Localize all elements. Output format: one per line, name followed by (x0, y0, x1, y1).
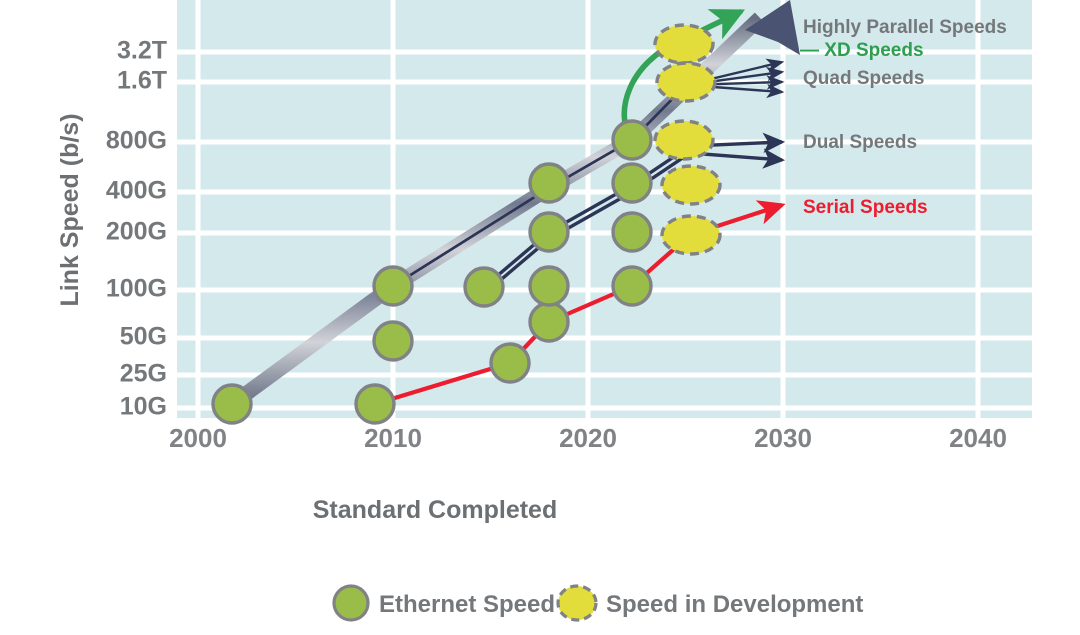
x-tick-2010: 2010 (364, 423, 422, 453)
y-tick-10g: 10G (120, 393, 167, 421)
y-tick-100g: 100G (106, 275, 167, 303)
y-tick-25g: 25G (120, 360, 167, 388)
speed-marker-800g-2022[interactable] (613, 121, 651, 159)
development-marker-1600g[interactable] (657, 63, 715, 101)
legend-marker-ethernet-speed (334, 586, 368, 620)
y-tick-50g: 50G (120, 323, 167, 351)
speed-marker-40g-2010[interactable] (374, 322, 412, 360)
speed-marker-200g-2022[interactable] (613, 213, 651, 251)
speed-marker-100g-2022[interactable] (613, 267, 651, 305)
y-axis-title: Link Speed (b/s) (56, 113, 84, 306)
annotation-xd-speeds: — XD Speeds (800, 40, 924, 61)
x-tick-2000: 2000 (169, 423, 227, 453)
x-tick-2020: 2020 (559, 423, 617, 453)
development-marker-200g[interactable] (662, 216, 720, 254)
y-tick-400g: 400G (106, 177, 167, 205)
annotation-serial-speeds: Serial Speeds (803, 197, 928, 218)
development-marker-3200g[interactable] (655, 25, 713, 63)
y-tick-3-2t: 3.2T (117, 37, 167, 65)
y-tick-200g: 200G (106, 218, 167, 246)
speed-marker-25g-2016[interactable] (491, 344, 529, 382)
development-marker-800g[interactable] (655, 121, 713, 159)
speed-marker-200g-2018[interactable] (530, 213, 568, 251)
speed-marker-100g-2018[interactable] (530, 267, 568, 305)
speed-marker-100g-2015[interactable] (465, 268, 503, 306)
x-axis-tick-labels: 2000 2010 2020 2030 2040 (169, 423, 1007, 453)
chart-legend: Ethernet Speed Speed in Development (334, 586, 863, 620)
annotation-quad-speeds: Quad Speeds (803, 68, 924, 89)
x-axis-title: Standard Completed (313, 496, 557, 524)
x-tick-2040: 2040 (949, 423, 1007, 453)
y-tick-1-6t: 1.6T (117, 67, 167, 95)
speed-marker-10g-2009[interactable] (356, 385, 394, 423)
annotation-highly-parallel-speeds: Highly Parallel Speeds (803, 17, 1007, 38)
legend-marker-speed-in-development (558, 586, 596, 620)
x-tick-2030: 2030 (754, 423, 812, 453)
speed-marker-400g-2022[interactable] (613, 164, 651, 202)
speed-marker-10g-2002[interactable] (213, 385, 251, 423)
speed-marker-400g-2018[interactable] (530, 164, 568, 202)
legend-label-ethernet-speed: Ethernet Speed (379, 591, 555, 618)
y-tick-800g: 800G (106, 127, 167, 155)
legend-label-speed-in-development: Speed in Development (606, 591, 863, 618)
annotation-dual-speeds: Dual Speeds (803, 132, 917, 153)
chart-canvas: 3.2T 1.6T 800G 400G 200G 100G 50G 25G 10… (0, 0, 1080, 635)
speed-marker-50g-2018[interactable] (530, 303, 568, 341)
y-axis-tick-labels: 3.2T 1.6T 800G 400G 200G 100G 50G 25G 10… (106, 37, 167, 421)
ethernet-speed-roadmap-chart: 3.2T 1.6T 800G 400G 200G 100G 50G 25G 10… (0, 0, 1080, 635)
speed-marker-100g-2010[interactable] (374, 267, 412, 305)
development-marker-400g[interactable] (662, 166, 720, 204)
